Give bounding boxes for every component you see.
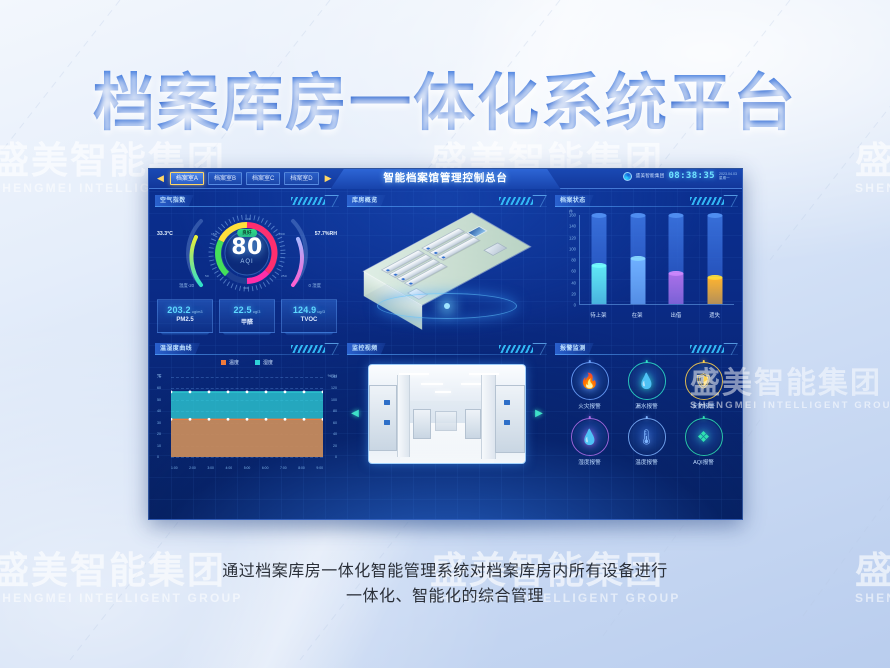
next-room-arrow[interactable]: ▶ [323, 173, 334, 184]
header-clock: 08:38:35 [668, 171, 715, 181]
video-feed[interactable] [368, 364, 526, 464]
svg-text:200: 200 [279, 232, 285, 236]
dashboard-frame: ◀ 档案室A 档案室B 档案室C 档案室D ▶ 智能档案馆管理控制总台 盛美智能… [148, 168, 743, 520]
room-3d-model[interactable] [347, 207, 547, 327]
y-tick-right: 100 [331, 398, 337, 402]
legend-swatch [221, 360, 226, 365]
series-point [265, 390, 268, 393]
video-next-button[interactable]: ▶ [533, 408, 545, 420]
metric-value: 124.9ug/3 [284, 305, 334, 315]
y-tick-left: 60 [157, 386, 161, 390]
bar-category-label: 待上架 [590, 311, 606, 319]
bar-fill [630, 258, 645, 304]
shield-icon: 🛡 [694, 374, 713, 389]
bar-category-label: 出借 [670, 311, 681, 319]
tab-room-a[interactable]: 档案室A [170, 172, 204, 185]
company-logo-icon [623, 172, 632, 181]
panel-body: 🔥火灾报警💧漏水报警🛡安防报警💧湿度报警🌡温度报警❖AQI报警 [555, 355, 738, 495]
y-tick-right: 140 [331, 375, 337, 379]
bar-column[interactable] [669, 215, 684, 304]
line-chart-svg [171, 377, 323, 457]
y-tick-left: 0 [157, 455, 159, 459]
x-tick-label: 9:00 [316, 466, 323, 470]
tab-room-d[interactable]: 档案室D [284, 172, 318, 185]
video-prev-button[interactable]: ◀ [349, 408, 361, 420]
panel-body: 100150 20050 250300 良好 80 AQI 33.3°C 温度-… [155, 207, 339, 347]
metric-formaldehyde: 22.5ug/3 甲醛 [219, 299, 275, 333]
alarm-tile-humidity[interactable]: 💧湿度报警 [561, 415, 618, 471]
y-tick-left: 70 [157, 375, 161, 379]
bar-chart-y-axis: 020406080100120140160 [555, 215, 579, 305]
y-tick-right: 40 [333, 432, 337, 436]
dashboard-title: 智能档案馆管理控制总台 [331, 168, 561, 189]
panel-body: 温度 湿度 ℃ %RH 0010202040306040805010060120… [155, 355, 339, 495]
y-tick-left: 50 [157, 398, 161, 402]
bar-fill [592, 265, 607, 304]
alarm-ring: ❖ [687, 420, 721, 454]
bar-chart-y-tick: 100 [569, 246, 576, 251]
caption-line-1: 通过档案库房一体化智能管理系统对档案库房内所有设备进行 [0, 560, 890, 585]
panel-header: 空气指数 [155, 195, 339, 207]
bar-column[interactable] [707, 215, 722, 304]
pillar [481, 375, 496, 459]
temperature-reading: 33.3°C [157, 231, 173, 237]
panel-body [347, 207, 547, 347]
alarm-label: 湿度报警 [578, 458, 600, 466]
alarm-ring: 🔥 [573, 364, 607, 398]
bar-fill [707, 277, 722, 304]
metric-label: 甲醛 [222, 317, 272, 326]
room-tab-bar: ◀ 档案室A 档案室B 档案室C 档案室D ▶ [155, 172, 334, 185]
header-right-group: 盛美智能集团 08:38:35 2023.04.03 星期一 [623, 171, 737, 181]
x-tick-label: 4:00 [226, 466, 233, 470]
x-tick-label: 1:00 [171, 466, 178, 470]
corridor-end-rack [435, 411, 457, 431]
archive-status-bar-chart: 件 020406080100120140160 待上架在架出借遗失 [555, 207, 738, 325]
page-title: 档案库房一体化系统平台 [0, 52, 890, 142]
y-tick-right: 0 [335, 455, 337, 459]
y-tick-right: 80 [333, 409, 337, 413]
thermometer-icon: 🌡 [637, 430, 656, 445]
bar-chart-y-tick: 60 [571, 269, 576, 274]
panel-header: 库房概览 [347, 195, 547, 207]
watermark: 盛美智能集团 SHENGMEI INTELLIGENT GROUP [855, 142, 890, 195]
archive-rack [413, 409, 431, 439]
bar-column[interactable] [592, 215, 607, 304]
x-tick-label: 7:00 [280, 466, 287, 470]
y-tick-right: 120 [331, 386, 337, 390]
line-chart-x-labels: 1:002:003:004:005:006:007:008:009:00 [171, 466, 323, 470]
water-leak-icon: 💧 [637, 374, 656, 389]
aqi-unit-label: AQI [240, 259, 253, 265]
panel-header: 监控视频 [347, 343, 547, 355]
temp-humidity-chart: 温度 湿度 ℃ %RH 0010202040306040805010060120… [155, 355, 339, 473]
line-chart-plot: 001020204030604080501006012070140 [171, 377, 323, 457]
tab-room-b[interactable]: 档案室B [208, 172, 242, 185]
bar-chart-y-tick: 80 [571, 258, 576, 263]
legend-label: 温度 [229, 359, 239, 366]
alarm-ring: 🛡 [687, 364, 721, 398]
alarm-label: AQI报警 [693, 458, 714, 466]
video-viewer: ◀ [347, 355, 547, 473]
room-slab [372, 217, 522, 301]
legend-item-humidity: 湿度 [255, 359, 273, 366]
air-metric-cards: 203.2ug/m3 PM2.5 22.5ug/3 甲醛 124.9ug/3 [155, 299, 339, 333]
series-point [265, 418, 268, 421]
svg-text:100: 100 [245, 217, 251, 221]
legend-swatch [255, 360, 260, 365]
alarm-label: 安防报警 [692, 402, 714, 410]
svg-text:150: 150 [211, 232, 217, 236]
y-tick-left: 30 [157, 421, 161, 425]
bar-chart-plot [579, 215, 734, 305]
alarm-tile-shield[interactable]: 🛡安防报警 [675, 359, 732, 415]
x-tick-label: 2:00 [189, 466, 196, 470]
bar-category-label: 在架 [632, 311, 643, 319]
series-area [171, 419, 323, 457]
series-point [208, 390, 211, 393]
series-point [303, 390, 306, 393]
y-tick-left: 20 [157, 432, 161, 436]
humidity-axis-label: 0 湿度 [309, 283, 321, 289]
fire-icon: 🔥 [580, 374, 599, 389]
series-point [189, 418, 192, 421]
chart-legend: 温度 湿度 [155, 359, 339, 366]
panel-header: 报警监测 [555, 343, 738, 355]
panel-archive-status: 档案状态 件 020406080100120140160 待上架在架出借遗失 [555, 195, 738, 347]
metric-value: 22.5ug/3 [222, 305, 272, 315]
aqi-gauge: 100150 20050 250300 良好 80 AQI 33.3°C 温度-… [155, 207, 339, 293]
svg-text:50: 50 [205, 274, 209, 278]
company-brand: 盛美智能集团 [636, 173, 665, 178]
alarm-ring: 💧 [573, 420, 607, 454]
humidity-icon: 💧 [580, 430, 599, 445]
alarm-ring: 🌡 [630, 420, 664, 454]
header-date: 2023.04.03 星期一 [719, 172, 737, 181]
panel-body: ◀ [347, 355, 547, 495]
legend-item-temperature: 温度 [221, 359, 239, 366]
leaf-icon: ❖ [697, 430, 710, 445]
svg-text:300: 300 [243, 286, 249, 290]
bar-chart-y-tick: 140 [569, 224, 576, 229]
alarm-label: 漏水报警 [635, 402, 657, 410]
alarm-tile-leaf[interactable]: ❖AQI报警 [675, 415, 732, 471]
metric-value: 203.2ug/m3 [160, 305, 210, 315]
bar-chart-y-tick: 120 [569, 235, 576, 240]
archive-rack [369, 385, 397, 451]
y-tick-left: 10 [157, 444, 161, 448]
bar-fill [669, 273, 684, 304]
panel-video-monitor: 监控视频 ◀ [347, 343, 547, 495]
temperature-axis-label: 温度-20 [179, 283, 194, 289]
series-point [246, 390, 249, 393]
bar-chart-y-tick: 40 [571, 280, 576, 285]
bar-column[interactable] [630, 215, 645, 304]
metric-label: TVOC [284, 317, 334, 323]
alarm-label: 温度报警 [635, 458, 657, 466]
bar-chart-y-tick: 0 [574, 303, 576, 308]
caption-line-2: 一体化、智能化的综合管理 [0, 585, 890, 610]
metric-pm25: 203.2ug/m3 PM2.5 [157, 299, 213, 333]
work-desk [483, 242, 507, 255]
metric-tvoc: 124.9ug/3 TVOC [281, 299, 337, 333]
panel-header: 档案状态 [555, 195, 738, 207]
prev-room-arrow[interactable]: ◀ [155, 173, 166, 184]
aqi-value: 80 [231, 235, 263, 260]
room-light-beam [444, 303, 450, 309]
panel-room-overview: 库房概览 [347, 195, 547, 347]
alarm-label: 火灾报警 [578, 402, 600, 410]
panel-body: 件 020406080100120140160 待上架在架出借遗失 [555, 207, 738, 347]
y-tick-left: 40 [157, 409, 161, 413]
x-tick-label: 5:00 [244, 466, 251, 470]
x-tick-label: 3:00 [207, 466, 214, 470]
alarm-tile-fire[interactable]: 🔥火灾报警 [561, 359, 618, 415]
archive-rack [465, 409, 481, 439]
series-point [284, 390, 287, 393]
series-point [303, 418, 306, 421]
chart-gridline: 00 [171, 457, 323, 458]
room-floor-slab [364, 213, 530, 305]
panel-air-quality: 空气指数 [155, 195, 339, 347]
series-point [227, 418, 230, 421]
series-point [227, 390, 230, 393]
humidity-reading: 57.7%RH [315, 231, 337, 237]
dashboard-header: ◀ 档案室A 档案室B 档案室C 档案室D ▶ 智能档案馆管理控制总台 盛美智能… [149, 169, 742, 189]
archive-rack [495, 385, 525, 453]
series-point [189, 390, 192, 393]
bar-chart-y-tick: 20 [571, 291, 576, 296]
alarm-tile-water-leak[interactable]: 💧漏水报警 [618, 359, 675, 415]
svg-text:250: 250 [281, 274, 287, 278]
bar-chart-y-tick: 160 [569, 213, 576, 218]
y-tick-right: 60 [333, 421, 337, 425]
panel-alarm-monitor: 报警监测 🔥火灾报警💧漏水报警🛡安防报警💧湿度报警🌡温度报警❖AQI报警 [555, 343, 738, 495]
x-tick-label: 8:00 [298, 466, 305, 470]
legend-label: 湿度 [263, 359, 273, 366]
series-point [284, 418, 287, 421]
pillar [397, 375, 410, 457]
x-tick-label: 6:00 [262, 466, 269, 470]
series-point [246, 418, 249, 421]
series-point [208, 418, 211, 421]
bar-category-label: 遗失 [709, 311, 720, 319]
alarm-tile-thermometer[interactable]: 🌡温度报警 [618, 415, 675, 471]
page-caption: 通过档案库房一体化智能管理系统对档案库房内所有设备进行 一体化、智能化的综合管理 [0, 560, 890, 610]
metric-label: PM2.5 [160, 317, 210, 323]
dashboard-screen: ◀ 档案室A 档案室B 档案室C 档案室D ▶ 智能档案馆管理控制总台 盛美智能… [148, 168, 743, 520]
panel-temp-humidity-curve: 温湿度曲线 温度 湿度 [155, 343, 339, 495]
y-tick-right: 20 [333, 444, 337, 448]
tab-room-c[interactable]: 档案室C [246, 172, 280, 185]
alarm-ring: 💧 [630, 364, 664, 398]
panel-header: 温湿度曲线 [155, 343, 339, 355]
alarm-tile-grid: 🔥火灾报警💧漏水报警🛡安防报警💧湿度报警🌡温度报警❖AQI报警 [555, 355, 738, 473]
